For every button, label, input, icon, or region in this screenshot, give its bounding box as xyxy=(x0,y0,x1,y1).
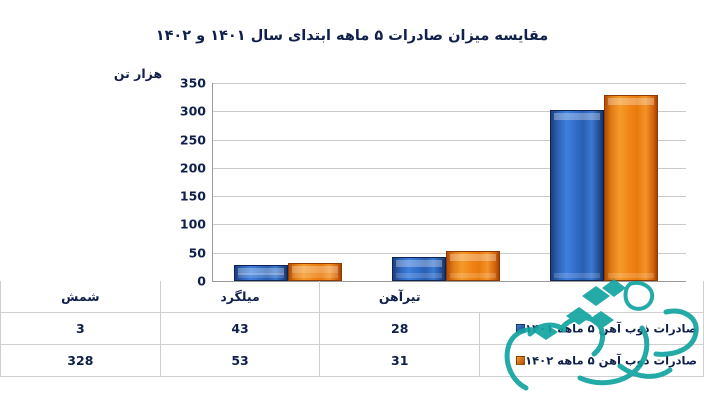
bar-group-shemsh xyxy=(550,83,660,281)
value-1402-shemsh: 328 xyxy=(1,345,161,377)
bar-tirahan-1401[interactable] xyxy=(234,265,288,281)
y-tick-50: 50 xyxy=(160,245,206,260)
chart-title: مقایسه میزان صادرات ۵ ماهه ابتدای سال ۱۴… xyxy=(0,28,704,44)
table-corner-cell xyxy=(480,281,704,313)
bar-bevel-bottom xyxy=(238,273,284,278)
bar-bevel-bottom xyxy=(608,273,654,278)
value-1402-tirahan: 31 xyxy=(320,345,480,377)
bar-bevel-bottom xyxy=(450,273,496,278)
bar-shemsh-1402[interactable] xyxy=(604,95,658,281)
bar-body xyxy=(550,110,604,281)
bar-bevel-bottom xyxy=(292,273,338,278)
value-1402-milgerd: 53 xyxy=(160,345,320,377)
bar-bevel-bottom xyxy=(554,273,600,278)
y-tick-300: 300 xyxy=(160,104,206,119)
legend-label-1402: صادرات ذوب آهن ۵ ماهه ۱۴۰۲ xyxy=(525,354,697,368)
bar-bevel-top xyxy=(554,113,600,120)
bar-body xyxy=(392,257,446,281)
category-header-shemsh: شمش xyxy=(1,281,161,313)
legend-row-1402[interactable]: صادرات ذوب آهن ۵ ماهه ۱۴۰۲ xyxy=(480,345,704,377)
bar-body xyxy=(234,265,288,281)
plot-area xyxy=(212,83,686,281)
y-axis-line xyxy=(212,83,213,282)
y-tick-200: 200 xyxy=(160,160,206,175)
y-tick-350: 350 xyxy=(160,76,206,91)
bar-group-milgerd xyxy=(392,83,502,281)
value-1401-shemsh: 3 xyxy=(1,313,161,345)
y-tick-250: 250 xyxy=(160,132,206,147)
table-row: صادرات ذوب آهن ۵ ماهه ۱۴۰۲ 31 53 328 xyxy=(1,345,704,377)
bar-body xyxy=(446,251,500,281)
bar-shemsh-1401[interactable] xyxy=(550,110,604,281)
bar-tirahan-1402[interactable] xyxy=(288,263,342,281)
bar-body xyxy=(288,263,342,281)
y-tick-100: 100 xyxy=(160,217,206,232)
bar-bevel-top xyxy=(608,98,654,105)
legend-swatch-orange-icon xyxy=(516,356,525,365)
legend-swatch-blue-icon xyxy=(516,324,525,333)
category-header-tirahan: تیرآهن xyxy=(320,281,480,313)
value-1401-tirahan: 28 xyxy=(320,313,480,345)
table-header-row: تیرآهن میلگرد شمش xyxy=(1,281,704,313)
bar-bevel-top xyxy=(396,260,442,267)
category-header-milgerd: میلگرد xyxy=(160,281,320,313)
bar-milgerd-1402[interactable] xyxy=(446,251,500,281)
y-axis-tick-labels: 350 300 250 200 150 100 50 0 xyxy=(150,83,206,281)
bar-body xyxy=(604,95,658,281)
bar-group-tirahan xyxy=(234,83,344,281)
y-tick-150: 150 xyxy=(160,189,206,204)
bar-milgerd-1401[interactable] xyxy=(392,257,446,281)
legend-label-1401: صادرات ذوب آهن ۵ ماهه ۱۴۰۱ xyxy=(525,322,697,336)
bar-bevel-bottom xyxy=(396,273,442,278)
table-row: صادرات ذوب آهن ۵ ماهه ۱۴۰۱ 28 43 3 xyxy=(1,313,704,345)
value-1401-milgerd: 43 xyxy=(160,313,320,345)
bar-bevel-top xyxy=(450,254,496,261)
data-table: تیرآهن میلگرد شمش صادرات ذوب آهن ۵ ماهه … xyxy=(0,281,704,377)
legend-row-1401[interactable]: صادرات ذوب آهن ۵ ماهه ۱۴۰۱ xyxy=(480,313,704,345)
